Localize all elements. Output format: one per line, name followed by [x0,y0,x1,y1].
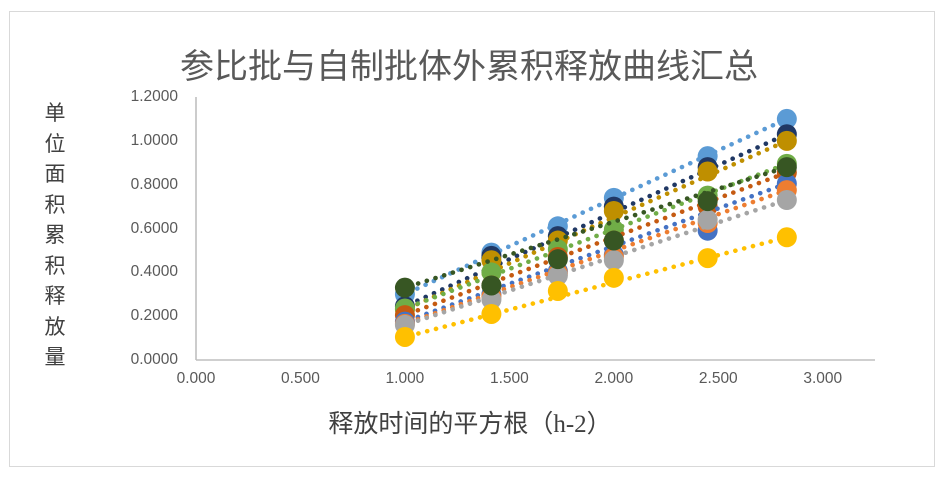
data-point [777,227,797,247]
data-point [698,162,718,182]
trendline [401,131,793,308]
trendline [401,198,793,326]
series-group [395,190,797,335]
data-point [395,327,415,347]
series-group [395,154,797,319]
data-point [698,191,718,211]
data-point [777,190,797,210]
data-point [604,250,624,270]
data-point [777,131,797,151]
data-point [481,275,501,295]
axis-lines [196,97,875,360]
data-point [395,278,415,298]
data-point [604,268,624,288]
data-point [604,201,624,221]
data-series-layer [395,109,797,347]
series-group [395,157,797,298]
data-point [548,249,568,269]
data-point [698,248,718,268]
series-group [395,163,797,325]
data-point [548,281,568,301]
plot-area [0,0,946,478]
data-point [698,210,718,230]
trendline [401,188,793,325]
trendline [401,161,793,310]
data-point [481,304,501,324]
data-point [777,157,797,177]
series-group [395,131,797,320]
scatter-chart: 参比批与自制批体外累积释放曲线汇总 单位面积累积释放量 释放时间的平方根（h-2… [0,0,946,478]
trendline [401,170,793,316]
data-point [604,231,624,251]
